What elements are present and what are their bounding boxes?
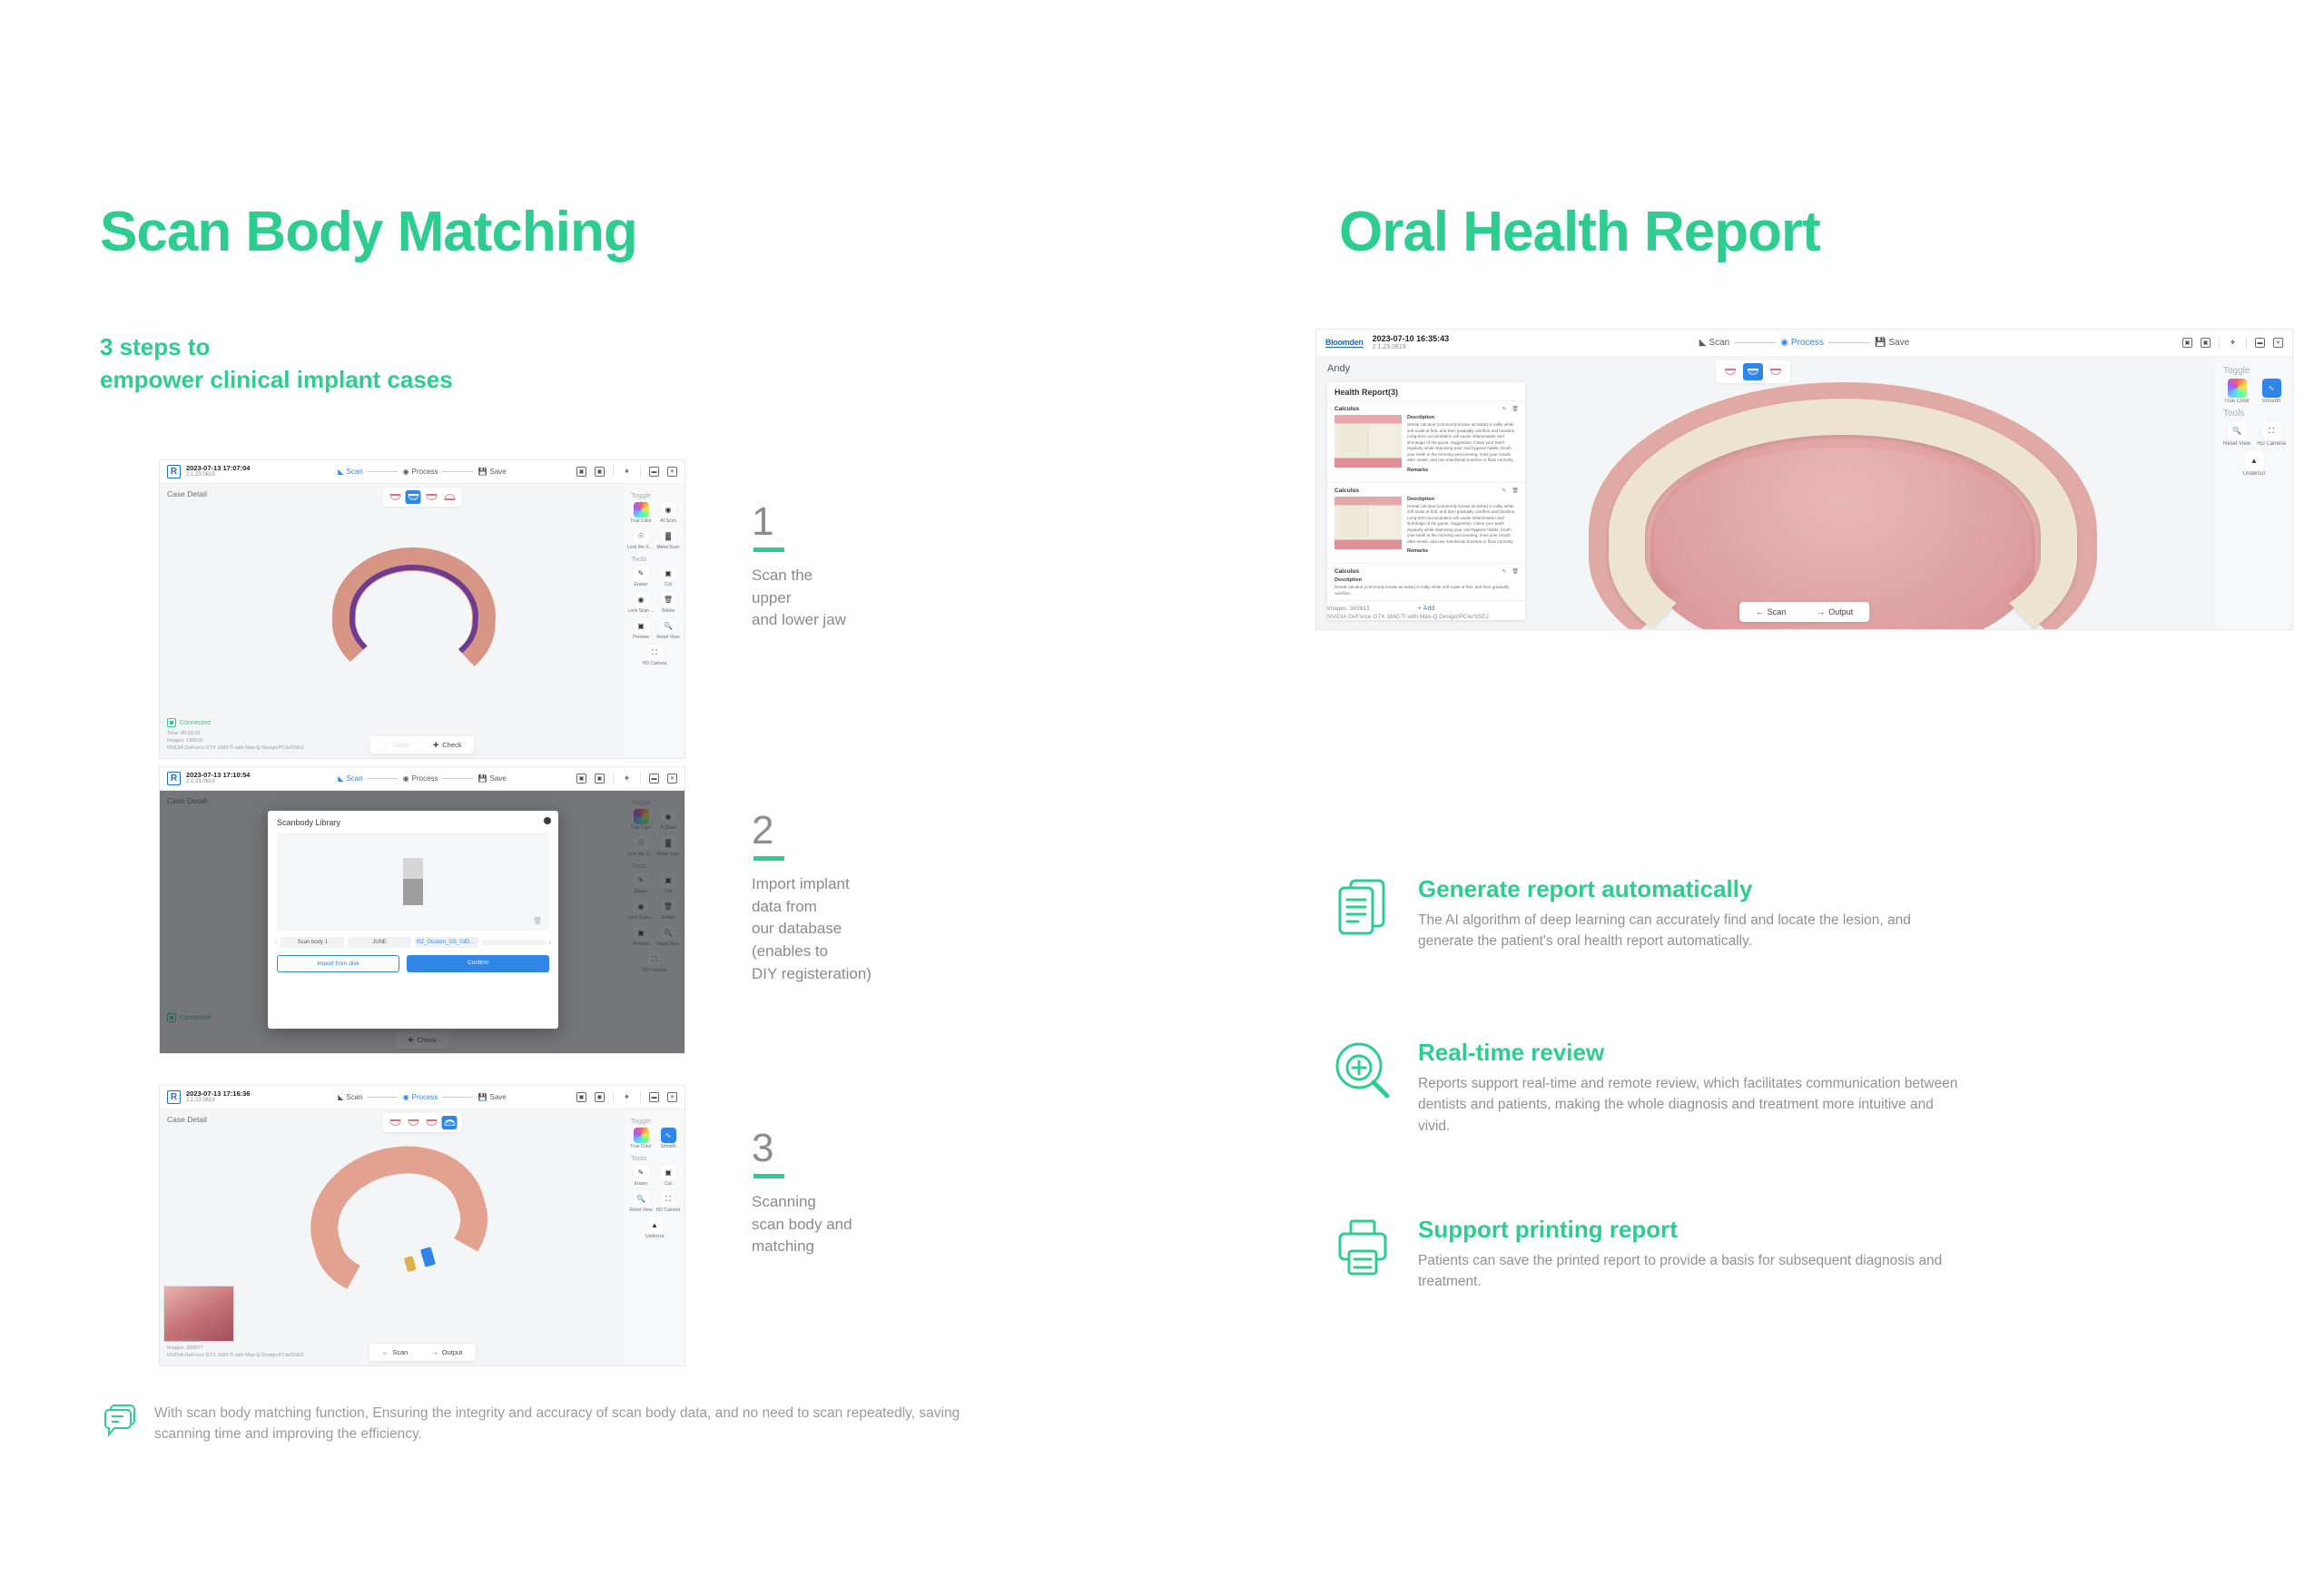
app3-toggle-label: Toggle <box>631 1117 681 1125</box>
lesion-photo <box>1334 497 1402 549</box>
camera-icon[interactable]: ▣ <box>576 1092 586 1102</box>
settings-icon[interactable]: ❖ <box>622 1092 632 1102</box>
feature-description: The AI algorithm of deep learning can ac… <box>1418 910 1968 952</box>
minimize-icon[interactable]: ▬ <box>649 467 659 477</box>
dental-arch-3d-model[interactable] <box>1543 373 2142 629</box>
divider <box>640 466 641 478</box>
app1-nav-save-label: Save <box>490 468 507 476</box>
current-user-label: Andy <box>1327 363 1350 374</box>
app2-nav-save[interactable]: 💾 Save <box>478 774 507 783</box>
description-text: Dental calculus (commonly known as tarta… <box>1334 585 1518 596</box>
app1-toggle-label: Toggle <box>631 491 681 499</box>
scanbody-preview[interactable]: 🗑 <box>277 833 549 931</box>
divider <box>2246 337 2247 349</box>
big-toggle-label: Toggle <box>2223 366 2288 376</box>
app3-version: 2.1.23.0619 <box>186 1098 250 1104</box>
ai-scan-icon: ◉ <box>661 502 676 517</box>
step-2-description: Import implant data from our database (e… <box>752 873 988 985</box>
health-report-panel[interactable]: Health Report(3) Calculus ✎ 🗑 Desctiptio… <box>1327 382 1525 620</box>
nav-divider <box>443 778 474 779</box>
nav-divider <box>443 471 474 472</box>
reset-view-icon: 🔍 <box>661 618 676 634</box>
nav-divider <box>368 1097 399 1098</box>
app1-connection-status: Connected <box>167 718 211 727</box>
tool-eraser[interactable]: ✎ Eraser <box>628 566 654 587</box>
close-icon[interactable]: ✕ <box>667 774 677 784</box>
scanbody-library-dialog[interactable]: Scanbody Library 🗑 ‹ Scan body 1 JUNE RZ… <box>268 811 558 1029</box>
app2-version: 2.1.23.0619 <box>186 779 250 785</box>
bite-icon <box>444 494 455 500</box>
app1-case-detail-label: Case Detail <box>167 489 207 498</box>
lower-jaw-model <box>293 1126 504 1315</box>
poster-root: Scan Body Matching 3 steps to empower cl… <box>0 0 2324 1577</box>
jaw-both-button[interactable] <box>406 1116 421 1129</box>
tool-reset-view[interactable]: 🔍Reset View <box>628 1191 654 1213</box>
step-1-number: 1 <box>752 502 988 542</box>
tool-cut[interactable]: ▣ Cut <box>655 566 681 587</box>
jaw-lower-button[interactable] <box>424 490 439 504</box>
lesion-photo <box>1334 415 1402 468</box>
app1-logo-icon: R <box>167 465 181 478</box>
camera-icon[interactable]: ▣ <box>2182 338 2192 348</box>
tool-true-color[interactable]: True Color <box>2221 379 2253 404</box>
cut-icon: ▣ <box>661 566 676 581</box>
app1-tool-panel: Toggle True Color ◉ AI Scan ☉ Lock the S… <box>625 484 684 758</box>
tool-undercut[interactable]: ▲ Undercut <box>2238 451 2270 477</box>
eraser-icon: ✎ <box>634 566 649 581</box>
next-arrow-icon[interactable]: › <box>549 940 551 946</box>
big-nav-process[interactable]: ◉ Process <box>1780 338 1824 348</box>
true-color-icon <box>634 1128 649 1143</box>
dialog-actions: Import from disk Confirm <box>268 951 558 981</box>
jaw-lower-button[interactable] <box>424 1116 439 1129</box>
tool-lock-scan[interactable]: ◉ Lock Scan ... <box>628 592 654 614</box>
trash-icon[interactable]: 🗑 <box>1512 488 1519 494</box>
nav-divider <box>368 471 399 472</box>
undercut-icon: ▲ <box>647 1217 663 1233</box>
divider <box>640 773 641 784</box>
big-scan-button[interactable]: ← Scan <box>1756 607 1787 616</box>
process-icon: ◉ <box>1780 338 1788 348</box>
big-nav-save[interactable]: 💾 Save <box>1875 338 1909 348</box>
trash-icon[interactable]: 🗑 <box>1512 406 1519 412</box>
lower-jaw-icon <box>426 494 437 500</box>
big-app-datetime: 2023-07-10 16:35:43 <box>1373 334 1450 343</box>
edit-icon[interactable]: ✎ <box>1502 488 1506 494</box>
camera-icon[interactable]: ▣ <box>576 774 586 784</box>
tool-true-color[interactable]: True Color <box>628 502 654 524</box>
reset-view-icon: 🔍 <box>2228 421 2247 440</box>
app3-3d-model[interactable] <box>293 1126 504 1315</box>
app1-datetime: 2023-07-13 17:07:04 <box>186 465 250 473</box>
step-1-rule <box>753 547 784 552</box>
big-bottom-bar: ← Scan → Output <box>1739 602 1870 622</box>
feature-printing-report: Support printing report Patients can sav… <box>1333 1217 1968 1293</box>
device-icon <box>167 718 176 727</box>
report-card[interactable]: Calculus ✎ 🗑 Desctiption Dental calculus… <box>1327 563 1525 600</box>
scanbody-tab-0[interactable]: Scan body 1 <box>281 937 344 948</box>
scanbody-tab-1[interactable]: JUNE <box>348 937 411 948</box>
divider <box>613 773 614 784</box>
smooth-icon: ∿ <box>2262 379 2281 398</box>
app1-undo-button[interactable]: ← Undo <box>383 741 409 749</box>
feature-generate-report: Generate report automatically The AI alg… <box>1333 876 1968 952</box>
scanner-icon: ◣ <box>338 774 343 783</box>
feature-description: Reports support real-time and remote rev… <box>1418 1073 1968 1138</box>
app3-nav-scan[interactable]: ◣ Scan <box>338 1093 362 1101</box>
app2-body: Case Detail Toggle True Color ◉AI Scan ☉… <box>160 791 684 1053</box>
minimize-icon[interactable]: ▬ <box>649 1092 659 1102</box>
trash-icon[interactable]: 🗑 <box>533 917 542 925</box>
chat-bubble-icon <box>100 1403 138 1445</box>
feature-description: Patients can save the printed report to … <box>1418 1250 1968 1293</box>
tool-undercut[interactable]: ▲Undercut <box>642 1217 667 1239</box>
step-2: 2 Import implant data from our database … <box>752 811 988 985</box>
edit-icon[interactable]: ✎ <box>1502 406 1506 412</box>
divider <box>613 1091 614 1103</box>
nav-divider <box>1828 342 1870 343</box>
app-screenshot-health-report[interactable]: Bloomden 2023-07-10 16:35:43 2.1.23.0619… <box>1316 330 2292 629</box>
undercut-icon: ▲ <box>2245 451 2264 470</box>
page-title-right: Oral Health Report <box>1339 204 1820 261</box>
metal-scan-icon: ▓ <box>661 528 676 544</box>
app2-logo-icon: R <box>167 772 181 785</box>
scanbody-tab-list: ‹ Scan body 1 JUNE RZ_Osstem_GS_03D_4...… <box>268 931 558 951</box>
big-app-nav: ◣ Scan ◉ Process 💾 Save <box>1699 338 1910 348</box>
minimize-icon[interactable]: ▬ <box>649 774 659 784</box>
app1-nav-save[interactable]: 💾 Save <box>478 468 507 476</box>
app3-status-text: Time: 00:03:36 Images: 320977 NVIDIA GeF… <box>167 1338 304 1360</box>
upper-jaw-icon <box>389 494 400 500</box>
plus-icon: ✚ <box>433 741 438 749</box>
tool-hd-camera[interactable]: ⛶ HD Camera <box>2255 421 2288 447</box>
app1-bottom-bar: ← Undo ✚ Check <box>370 736 475 754</box>
process-icon: ◉ <box>403 1093 409 1101</box>
smooth-icon: ∿ <box>661 1128 676 1143</box>
app1-header: R 2023-07-13 17:07:04 2.1.23.0619 ◣ Scan… <box>160 460 684 484</box>
subtitle-line-2: empower clinical implant cases <box>100 364 453 397</box>
oral-health-report-section: Oral Health Report Bloomden 2023-07-10 1… <box>1289 0 2324 1577</box>
scanbody-tab-3[interactable] <box>482 940 546 945</box>
report-card[interactable]: Calculus ✎ 🗑 Desctiption Dental calculus… <box>1327 400 1525 482</box>
step-3-number: 3 <box>752 1129 988 1168</box>
upper-jaw-icon <box>389 1119 400 1126</box>
app3-bottom-bar: ← Scan → Output <box>369 1344 476 1361</box>
right-arrow-icon: → <box>431 1348 438 1356</box>
app3-logo-icon: R <box>167 1090 181 1104</box>
both-jaw-icon <box>408 494 419 500</box>
gallery-icon[interactable]: ▣ <box>2201 338 2211 348</box>
gallery-icon[interactable]: ▣ <box>595 774 605 784</box>
tool-true-color[interactable]: True Color <box>628 1128 654 1149</box>
trash-icon[interactable]: 🗑 <box>1512 568 1519 575</box>
app1-jaw-selector[interactable] <box>383 488 462 507</box>
description-label: Desctiption <box>1334 577 1518 583</box>
description-label: Desctiption <box>1407 415 1518 420</box>
app2-nav-scan[interactable]: ◣ Scan <box>338 774 362 783</box>
close-icon[interactable]: ✕ <box>2273 338 2283 348</box>
lock-scan-icon: ◉ <box>634 592 649 607</box>
app3-output-button[interactable]: → Output <box>431 1348 462 1356</box>
step-3-description: Scanning scan body and matching <box>752 1191 988 1258</box>
confirm-button[interactable]: Confirm <box>407 955 549 972</box>
feature-realtime-review: Real-time review Reports support real-ti… <box>1333 1040 1968 1137</box>
scanner-icon: ◣ <box>338 468 343 476</box>
app1-toggle-grid: True Color ◉ AI Scan ☉ Lock the Sc... ▓ … <box>628 502 681 553</box>
app3-datetime: 2023-07-13 17:16:36 <box>186 1090 250 1099</box>
process-icon: ◉ <box>403 774 409 783</box>
nav-divider <box>443 1097 474 1098</box>
save-icon: 💾 <box>1875 338 1886 348</box>
close-icon[interactable]: ✕ <box>667 1092 677 1102</box>
settings-icon[interactable]: ❖ <box>2228 338 2238 348</box>
app2-nav: ◣ Scan ◉ Process 💾 Save <box>338 774 506 783</box>
description-text: Dental calculus (commonly known as tarta… <box>1407 504 1518 546</box>
tool-eraser[interactable]: ✎Eraser <box>628 1165 654 1187</box>
reset-view-icon: 🔍 <box>634 1191 649 1207</box>
scanbody-tab-2[interactable]: RZ_Osstem_GS_03D_4... <box>415 937 478 948</box>
app1-nav-process[interactable]: ◉ Process <box>403 468 438 476</box>
minimize-icon[interactable]: ▬ <box>2255 338 2265 348</box>
scanbody-3d-shape <box>403 858 423 905</box>
camera-icon[interactable]: ▣ <box>576 467 586 477</box>
big-app-version: 2.1.23.0619 <box>1373 344 1450 351</box>
report-card-name: Calculus <box>1334 488 1518 494</box>
upper-jaw-model <box>330 545 497 686</box>
app3-tool-panel: Toggle True Color ∿Smooth Tools ✎Eraser … <box>625 1109 684 1365</box>
scanner-icon: ◣ <box>338 1093 343 1101</box>
tool-preview[interactable]: ▣ Preview <box>628 618 654 640</box>
settings-icon[interactable]: ❖ <box>622 467 632 477</box>
tool-smooth[interactable]: ∿Smooth <box>655 1128 681 1149</box>
true-color-icon <box>634 502 649 517</box>
lower-jaw-icon <box>426 1119 437 1126</box>
gallery-icon[interactable]: ▣ <box>595 1092 605 1102</box>
app1-check-button[interactable]: ✚ Check <box>433 741 462 749</box>
right-arrow-icon: → <box>1817 607 1825 616</box>
close-icon[interactable]: ✕ <box>667 467 677 477</box>
subtitle-line-1: 3 steps to <box>100 331 453 364</box>
big-tools-label: Tools <box>2223 409 2288 419</box>
jaw-upper-button[interactable] <box>388 490 403 504</box>
big-app-body: Andy Health Report(3) Calculus <box>1316 357 2292 629</box>
cut-icon: ▣ <box>661 1165 676 1180</box>
description-text: Dental calculus (commonly known as tarta… <box>1407 422 1518 464</box>
app1-tools-label: Tools <box>631 555 681 563</box>
jaw-upper-button[interactable] <box>388 1116 403 1129</box>
big-nav-scan[interactable]: ◣ Scan <box>1699 338 1730 348</box>
app3-scan-button[interactable]: ← Scan <box>382 1348 409 1356</box>
left-arrow-icon: ← <box>382 1348 389 1356</box>
tool-metal-scan[interactable]: ▓ Metal Scan <box>655 528 681 550</box>
divider <box>640 1091 641 1103</box>
tool-delete[interactable]: 🗑 Delete <box>655 592 681 614</box>
undo-icon: ← <box>383 741 390 749</box>
process-icon: ◉ <box>403 468 409 476</box>
hd-camera-icon: ⛶ <box>647 645 663 660</box>
app3-tools-label: Tools <box>631 1154 681 1162</box>
app1-connected-label: Connected <box>180 720 211 726</box>
tool-hd-camera[interactable]: ⛶ HD Camera <box>642 645 667 666</box>
app1-tools-grid: ✎ Eraser ▣ Cut ◉ Lock Scan ... 🗑 Delete <box>628 566 681 669</box>
divider <box>2219 337 2220 349</box>
divider <box>613 466 614 478</box>
trash-icon: 🗑 <box>661 592 676 607</box>
app3-hd-camera-preview[interactable] <box>163 1286 234 1342</box>
dialog-title: Scanbody Library <box>268 811 558 833</box>
footnote-text: With scan body matching function, Ensuri… <box>154 1403 971 1445</box>
app1-status-text: Time: 00:03:29 Images: 190600 NVIDIA GeF… <box>167 731 304 753</box>
app1-version: 2.1.23.0619 <box>186 472 250 478</box>
big-output-button[interactable]: → Output <box>1817 607 1853 616</box>
scanner-icon: ◣ <box>1699 338 1707 348</box>
lock-icon: ☉ <box>634 528 649 544</box>
prev-arrow-icon[interactable]: ‹ <box>275 940 277 946</box>
feature-title: Real-time review <box>1418 1040 1968 1066</box>
step-3: 3 Scanning scan body and matching <box>752 1129 988 1258</box>
settings-icon[interactable]: ❖ <box>622 774 632 784</box>
feature-title: Support printing report <box>1418 1217 1968 1243</box>
tool-ai-scan[interactable]: ◉ AI Scan <box>655 502 681 524</box>
scan-overlay-outline <box>348 563 480 669</box>
report-card-name: Calculus <box>1334 568 1518 575</box>
app3-nav: ◣ Scan ◉ Process 💾 Save <box>338 1093 506 1101</box>
step-1: 1 Scan the upper and lower jaw <box>752 502 988 632</box>
tool-reset-view[interactable]: 🔍 Reset View <box>655 618 681 640</box>
magnifier-plus-icon <box>1333 1040 1394 1137</box>
jaw-both-button[interactable] <box>406 490 421 504</box>
app-screenshot-step1[interactable]: R 2023-07-13 17:07:04 2.1.23.0619 ◣ Scan… <box>160 460 684 758</box>
big-tool-panel: Toggle True Color ∿ Smooth Tools 🔍 <box>2216 357 2292 629</box>
remarks-text: ... <box>1407 554 1518 559</box>
tool-smooth[interactable]: ∿ Smooth <box>2255 379 2288 404</box>
tool-hd-camera[interactable]: ⛶HD Camera <box>655 1191 681 1213</box>
import-from-disk-button[interactable]: Import from disk <box>277 955 399 972</box>
bite-icon <box>444 1119 455 1126</box>
report-card-name: Calculus <box>1334 406 1518 412</box>
save-icon: 💾 <box>478 468 487 476</box>
printer-icon <box>1333 1217 1394 1293</box>
edit-icon[interactable]: ✎ <box>1502 568 1506 575</box>
both-jaw-icon <box>408 1119 419 1126</box>
true-color-icon <box>2228 379 2247 398</box>
app3-nav-process[interactable]: ◉ Process <box>403 1093 438 1101</box>
report-card[interactable]: Calculus ✎ 🗑 Desctiption Dental calculus… <box>1327 482 1525 564</box>
app1-nav: ◣ Scan ◉ Process 💾 Save <box>338 468 506 476</box>
app3-case-detail-label: Case Detail <box>167 1115 207 1124</box>
eraser-icon: ✎ <box>634 1165 649 1180</box>
app1-nav-process-label: Process <box>412 468 438 476</box>
bloomden-logo: Bloomden <box>1325 338 1364 349</box>
description-label: Desctiption <box>1407 497 1518 502</box>
app-screenshot-step2[interactable]: R 2023-07-13 17:10:54 2.1.23.0619 ◣ Scan… <box>160 767 684 1053</box>
page-title-left: Scan Body Matching <box>100 204 637 261</box>
step-2-rule <box>753 856 784 861</box>
app1-body: Case Detail Toggle <box>160 484 684 758</box>
remarks-text: ... <box>1407 473 1518 478</box>
app-screenshot-step3[interactable]: R 2023-07-13 17:16:36 2.1.23.0619 ◣ Scan… <box>160 1086 684 1365</box>
save-icon: 💾 <box>478 774 487 783</box>
health-report-title: Health Report(3) <box>1327 382 1525 400</box>
documents-icon <box>1333 876 1394 952</box>
big-status-text: Images: 383913 NVIDIA GeForce GTX 1660 T… <box>1327 605 1489 623</box>
preview-icon: ▣ <box>634 618 649 634</box>
app1-nav-scan[interactable]: ◣ Scan <box>338 468 362 476</box>
hd-camera-icon: ⛶ <box>661 1191 676 1207</box>
scan-body-matching-section: Scan Body Matching 3 steps to empower cl… <box>0 0 1289 1577</box>
jaw-bite-button[interactable] <box>442 490 458 504</box>
gallery-icon[interactable]: ▣ <box>595 467 605 477</box>
nav-divider <box>1734 342 1776 343</box>
close-icon[interactable] <box>544 817 551 824</box>
app2-header: R 2023-07-13 17:10:54 2.1.23.0619 ◣ Scan… <box>160 767 684 791</box>
app3-header: R 2023-07-13 17:16:36 2.1.23.0619 ◣ Scan… <box>160 1086 684 1109</box>
tool-reset-view[interactable]: 🔍 Reset View <box>2221 421 2253 447</box>
footnote: With scan body matching function, Ensuri… <box>100 1403 971 1445</box>
app1-nav-scan-label: Scan <box>346 468 362 476</box>
tool-cut[interactable]: ▣Cut <box>655 1165 681 1187</box>
left-arrow-icon: ← <box>1756 607 1764 616</box>
app3-nav-save[interactable]: 💾 Save <box>478 1093 507 1101</box>
app3-body: Case Detail Toggle True Color <box>160 1109 684 1365</box>
nav-divider <box>368 778 399 779</box>
step-1-description: Scan the upper and lower jaw <box>752 565 988 632</box>
app1-3d-model[interactable] <box>332 547 496 684</box>
feature-title: Generate report automatically <box>1418 876 1968 902</box>
tool-lock-the-scan[interactable]: ☉ Lock the Sc... <box>628 528 654 550</box>
save-icon: 💾 <box>478 1093 487 1101</box>
hd-camera-icon: ⛶ <box>2262 421 2281 440</box>
step-3-rule <box>753 1174 784 1178</box>
app2-nav-process[interactable]: ◉ Process <box>403 774 438 783</box>
big-app-header: Bloomden 2023-07-10 16:35:43 2.1.23.0619… <box>1316 330 2292 357</box>
app2-datetime: 2023-07-13 17:10:54 <box>186 772 250 780</box>
step-2-number: 2 <box>752 811 988 851</box>
